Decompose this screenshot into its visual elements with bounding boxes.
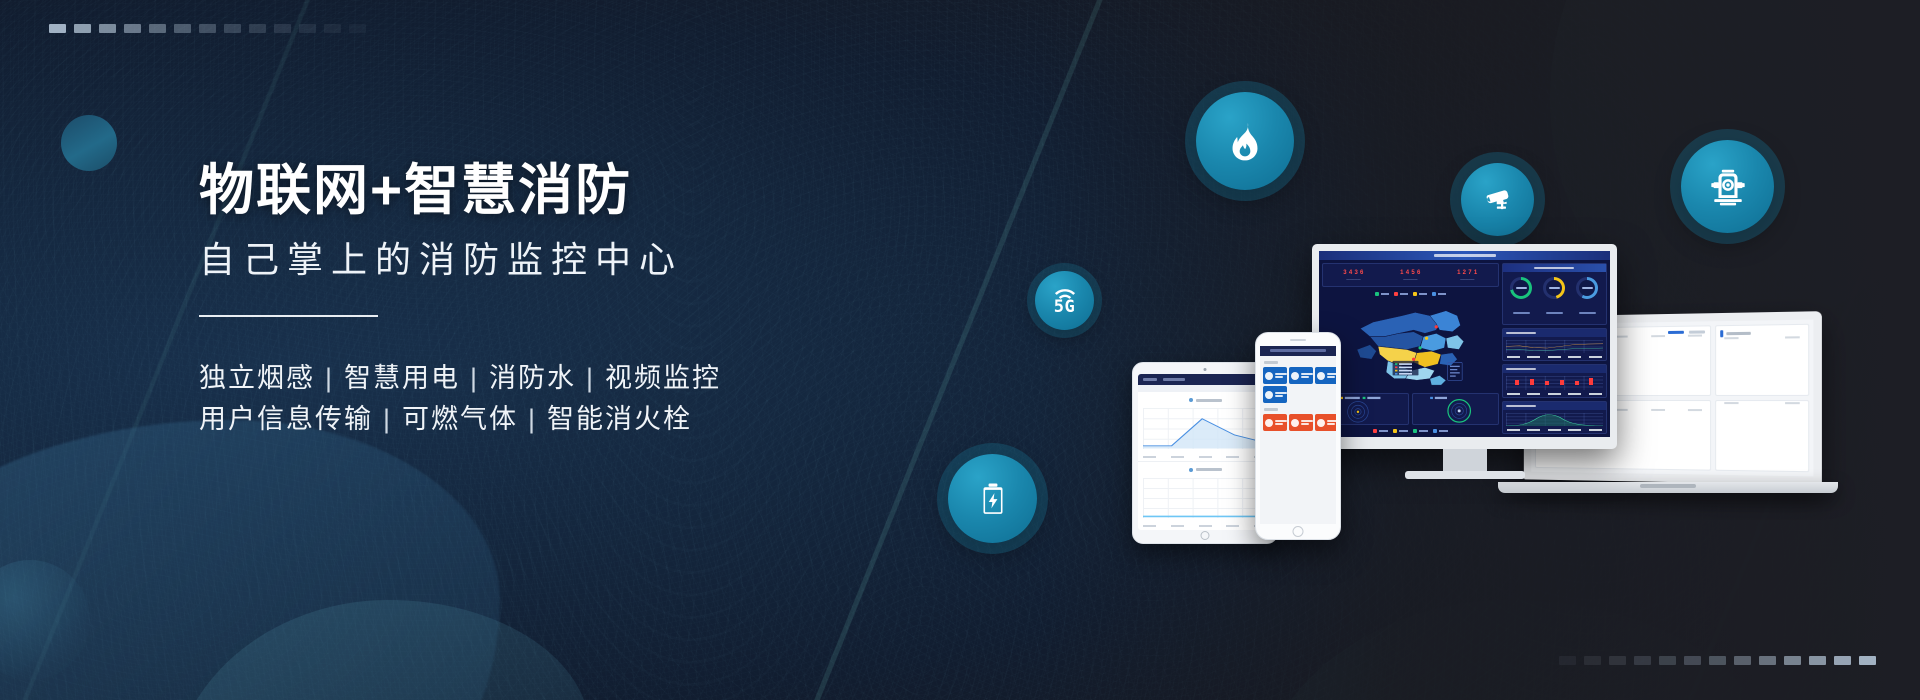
phone-tile[interactable] xyxy=(1263,367,1287,384)
phone-header xyxy=(1260,346,1336,356)
feature-item: 消防水 xyxy=(489,363,576,393)
map-legend xyxy=(1322,290,1499,298)
decline-chart-plot xyxy=(1720,339,1804,340)
gauge-3 xyxy=(1576,277,1598,299)
tablet-navbar xyxy=(1138,374,1272,385)
feature-item: 用户信息传输 xyxy=(199,404,373,434)
feature-separator: | xyxy=(373,404,402,434)
camera-icon-badge[interactable] xyxy=(1461,163,1534,236)
tablet-screen xyxy=(1138,374,1272,530)
feature-separator: | xyxy=(315,363,344,393)
monitor-frame: 3 4 3 6───── 1 4 5 6───── 1 2 7 1───── xyxy=(1312,244,1617,449)
feature-list: 独立烟感|智慧用电|消防水|视频监控 用户信息传输|可燃气体|智能消火栓 xyxy=(199,358,919,440)
feature-item: 智能消火栓 xyxy=(547,404,692,434)
camera-icon xyxy=(1481,183,1515,217)
feature-item: 独立烟感 xyxy=(199,363,315,393)
hero-copy: 物联网+智慧消防 自己掌上的消防监控中心 独立烟感|智慧用电|消防水|视频监控 … xyxy=(199,160,919,440)
phone-tile[interactable] xyxy=(1289,414,1313,431)
feature-item: 视频监控 xyxy=(605,363,721,393)
feature-line-2: 用户信息传输|可燃气体|智能消火栓 xyxy=(199,399,919,440)
dashboard-left-column: 3 4 3 6───── 1 4 5 6───── 1 2 7 1───── xyxy=(1322,263,1499,434)
monitor-stand-base xyxy=(1405,471,1525,479)
radar-chart-right xyxy=(1412,393,1499,425)
area-chart-card xyxy=(1502,401,1607,434)
bar-chart-card xyxy=(1502,364,1607,397)
phone-device[interactable] xyxy=(1255,332,1341,540)
feature-separator: | xyxy=(576,363,605,393)
radar-cards xyxy=(1322,393,1499,425)
phone-section-blue xyxy=(1260,356,1336,403)
feature-item: 智慧用电 xyxy=(344,363,460,393)
chart-tabs[interactable] xyxy=(1668,330,1705,334)
fire-icon xyxy=(1223,119,1267,163)
laptop-baseline-chart-card xyxy=(1715,400,1809,472)
tablet-chart-panel-1 xyxy=(1138,392,1272,462)
monitor-stand-neck xyxy=(1443,449,1487,471)
dashed-rule-top-left xyxy=(49,24,366,33)
battery-icon xyxy=(974,480,1012,518)
tablet-subbar xyxy=(1138,385,1272,392)
phone-home-button[interactable] xyxy=(1293,526,1304,537)
kpi-card: 3 4 3 6───── 1 4 5 6───── 1 2 7 1───── xyxy=(1322,263,1499,287)
monitor-device[interactable]: 3 4 3 6───── 1 4 5 6───── 1 2 7 1───── xyxy=(1312,244,1617,494)
phone-tile[interactable] xyxy=(1263,386,1287,403)
hero-banner: 物联网+智慧消防 自己掌上的消防监控中心 独立烟感|智慧用电|消防水|视频监控 … xyxy=(0,0,1920,700)
phone-tile[interactable] xyxy=(1315,367,1336,384)
dashed-rule-bottom-right xyxy=(1559,656,1876,665)
tablet-chart-panel-2 xyxy=(1138,462,1272,531)
line-chart xyxy=(1506,340,1603,353)
hydrant-icon xyxy=(1706,165,1750,209)
bar-chart xyxy=(1506,376,1603,389)
phone-speaker xyxy=(1290,339,1306,341)
divider xyxy=(199,315,378,317)
battery-icon-badge[interactable] xyxy=(948,454,1037,543)
device-mockup-cluster: 3 4 3 6───── 1 4 5 6───── 1 2 7 1───── xyxy=(1120,290,1860,570)
phone-screen xyxy=(1260,346,1336,524)
hydrant-icon-badge[interactable] xyxy=(1681,140,1774,233)
phone-section-orange xyxy=(1260,403,1336,431)
5g-label: 5G xyxy=(1035,297,1094,317)
page-title: 物联网+智慧消防 xyxy=(199,160,919,222)
tablet-camera-dot xyxy=(1204,368,1207,371)
phone-tile[interactable] xyxy=(1315,414,1336,431)
feature-separator: | xyxy=(460,363,489,393)
phone-tile[interactable] xyxy=(1263,414,1287,431)
feature-separator: | xyxy=(518,404,547,434)
5g-icon-badge[interactable]: 5G xyxy=(1035,271,1094,330)
dashboard-title-bar xyxy=(1319,251,1610,260)
gauge-1 xyxy=(1510,277,1532,299)
bottom-legend xyxy=(1322,428,1499,434)
monitor-screen: 3 4 3 6───── 1 4 5 6───── 1 2 7 1───── xyxy=(1319,251,1610,437)
phone-tile[interactable] xyxy=(1289,367,1313,384)
gauge-card xyxy=(1502,263,1607,325)
feature-item: 可燃气体 xyxy=(402,404,518,434)
fire-icon-badge[interactable] xyxy=(1196,92,1294,190)
tablet-home-button xyxy=(1201,531,1210,540)
line-chart-card xyxy=(1502,328,1607,361)
page-subtitle: 自己掌上的消防监控中心 xyxy=(199,238,919,281)
laptop-decline-chart-card xyxy=(1715,324,1809,396)
area-chart xyxy=(1506,413,1603,426)
feature-line-1: 独立烟感|智慧用电|消防水|视频监控 xyxy=(199,358,919,399)
decorative-circle-top-left xyxy=(61,115,117,171)
china-map-chart xyxy=(1322,301,1499,390)
gauge-2 xyxy=(1543,277,1565,299)
dashboard-right-column xyxy=(1502,263,1607,434)
